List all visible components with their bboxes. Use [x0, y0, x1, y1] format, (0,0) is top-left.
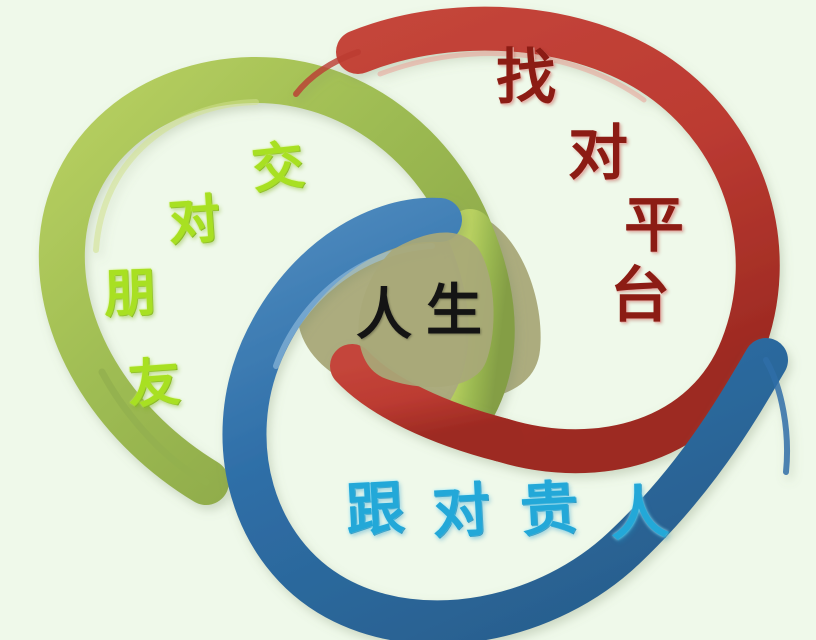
red-char-4: 台 [610, 266, 670, 326]
cyan-char-1: 跟 [345, 479, 406, 540]
red-char-2: 对 [568, 124, 628, 184]
cyan-char-4: 人 [609, 483, 670, 544]
center-char-1: 人 [356, 288, 412, 344]
poster-canvas: 找 对 平 台 交 对 朋 友 跟 对 贵 人 人 生 [0, 0, 816, 640]
green-char-4: 友 [126, 356, 182, 412]
center-char-2: 生 [426, 284, 482, 340]
green-char-2: 对 [166, 193, 222, 249]
green-char-3: 朋 [103, 267, 157, 321]
cyan-char-3: 贵 [519, 479, 580, 540]
green-char-1: 交 [249, 139, 306, 196]
cyan-char-2: 对 [431, 481, 492, 542]
red-char-3: 平 [624, 196, 684, 256]
red-char-1: 找 [496, 48, 556, 108]
